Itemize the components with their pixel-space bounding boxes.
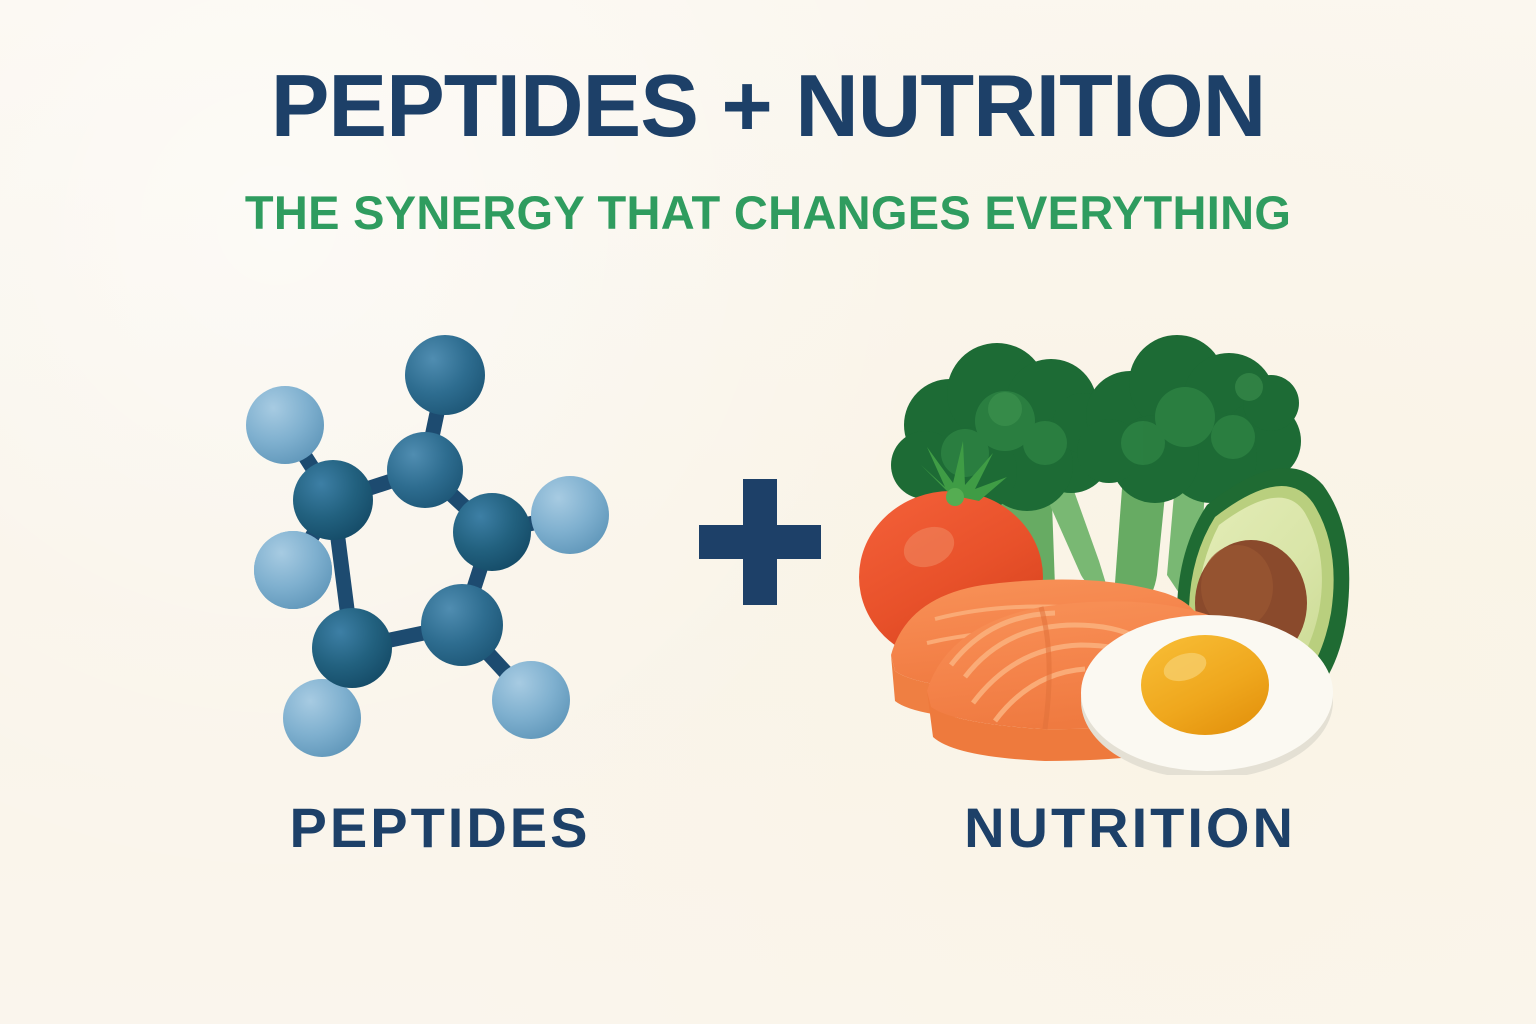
peptide-molecule-illustration <box>225 325 645 775</box>
fried-egg <box>1081 615 1333 775</box>
page-subtitle: THE SYNERGY THAT CHANGES EVERYTHING <box>0 189 1536 236</box>
page-title: PEPTIDES + NUTRITION <box>0 62 1536 150</box>
infographic-canvas: PEPTIDES + NUTRITION THE SYNERGY THAT CH… <box>0 0 1536 1024</box>
panel-label-peptides: PEPTIDES <box>130 800 750 856</box>
panel-label-nutrition: NUTRITION <box>820 800 1440 856</box>
molecule-atom-top <box>405 335 485 415</box>
nutrition-food-illustration <box>855 325 1365 775</box>
molecule-atom-satellite-left <box>254 531 332 609</box>
plus-vertical-bar <box>743 479 777 605</box>
plus-icon <box>699 479 821 605</box>
